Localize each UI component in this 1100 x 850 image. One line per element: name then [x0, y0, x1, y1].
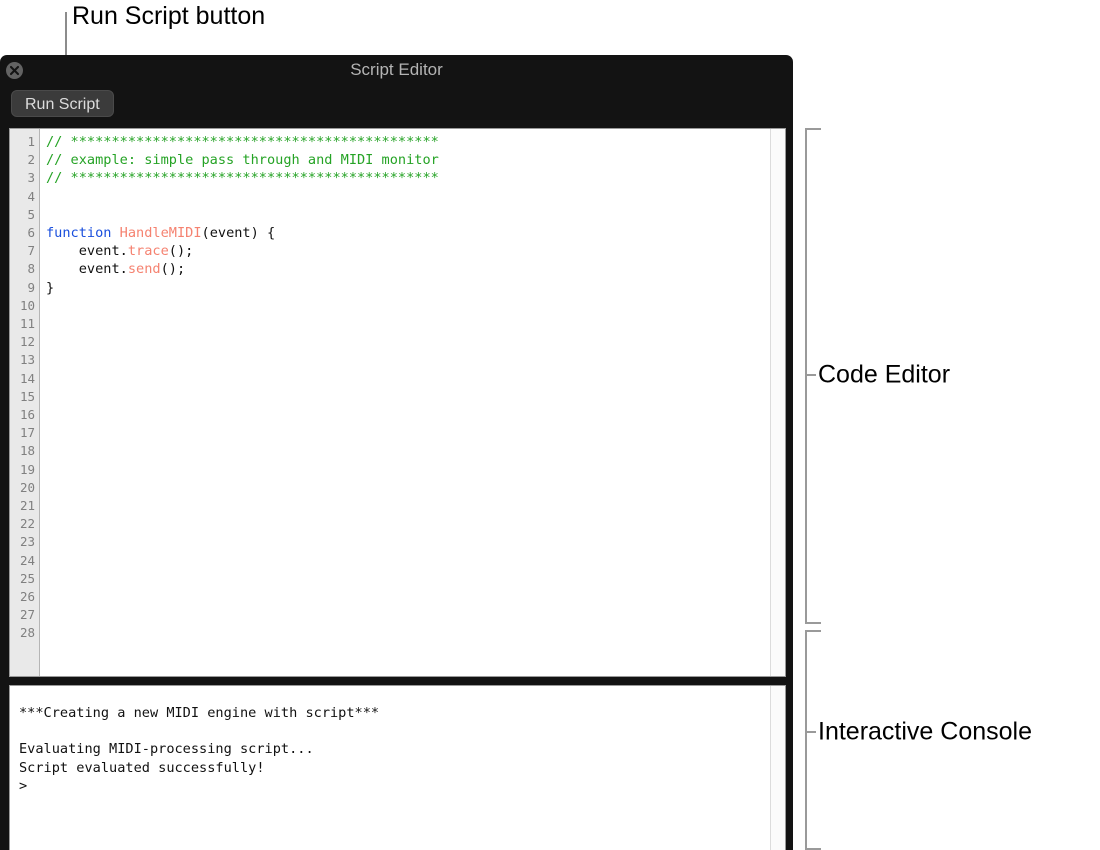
window-title-bar: Script Editor: [0, 55, 793, 85]
code-editor[interactable]: 1234567891011121314151617181920212223242…: [9, 128, 786, 677]
line-number: 13: [10, 351, 39, 369]
code-token-comment: // example: simple pass through and MIDI…: [46, 152, 439, 168]
code-token-plain: event.: [46, 243, 128, 259]
code-token-plain: ();: [169, 243, 194, 259]
code-token-plain: ();: [161, 261, 186, 277]
line-number: 18: [10, 442, 39, 460]
code-token-plain: }: [46, 280, 54, 296]
line-number: 12: [10, 333, 39, 351]
line-number: 27: [10, 606, 39, 624]
line-number: 4: [10, 188, 39, 206]
window-title: Script Editor: [0, 55, 793, 85]
line-number: 15: [10, 388, 39, 406]
script-editor-window: Script Editor Run Script 123456789101112…: [0, 55, 793, 850]
line-number: 25: [10, 570, 39, 588]
code-token-comment: // *************************************…: [46, 134, 439, 150]
line-number: 9: [10, 279, 39, 297]
line-number: 5: [10, 206, 39, 224]
code-text-area[interactable]: // *************************************…: [40, 129, 785, 676]
line-number: 11: [10, 315, 39, 333]
annotation-tick-interactive-console: [805, 731, 816, 733]
line-number: 20: [10, 479, 39, 497]
line-number: 19: [10, 461, 39, 479]
line-number: 22: [10, 515, 39, 533]
code-token-plain: event.: [46, 261, 128, 277]
callout-label-run-script: Run Script button: [72, 0, 265, 32]
line-number: 24: [10, 552, 39, 570]
code-token-plain: (event) {: [202, 225, 276, 241]
line-number: 8: [10, 260, 39, 278]
line-number: 10: [10, 297, 39, 315]
line-number: 2: [10, 151, 39, 169]
code-token-fn: HandleMIDI: [120, 225, 202, 241]
annotation-label-interactive-console: Interactive Console: [818, 718, 1032, 747]
line-number: 23: [10, 533, 39, 551]
annotation-tick-code-editor: [805, 374, 816, 376]
interactive-console[interactable]: ***Creating a new MIDI engine with scrip…: [9, 685, 786, 850]
line-number: 6: [10, 224, 39, 242]
line-number: 16: [10, 406, 39, 424]
line-number: 28: [10, 624, 39, 642]
toolbar: Run Script: [0, 85, 793, 125]
code-token-comment: // *************************************…: [46, 170, 439, 186]
line-number: 7: [10, 242, 39, 260]
line-number-gutter: 1234567891011121314151617181920212223242…: [10, 129, 40, 676]
code-token-fn: send: [128, 261, 161, 277]
console-scrollbar[interactable]: [770, 686, 785, 850]
code-editor-scrollbar[interactable]: [770, 129, 785, 676]
code-token-fn: trace: [128, 243, 169, 259]
code-content[interactable]: // *************************************…: [40, 129, 439, 297]
line-number: 3: [10, 169, 39, 187]
code-token-keyword: function: [46, 225, 120, 241]
run-script-button[interactable]: Run Script: [11, 90, 114, 117]
line-number: 14: [10, 370, 39, 388]
line-number: 26: [10, 588, 39, 606]
line-number: 21: [10, 497, 39, 515]
annotation-label-code-editor: Code Editor: [818, 361, 950, 390]
line-number: 1: [10, 133, 39, 151]
console-output: ***Creating a new MIDI engine with scrip…: [10, 686, 379, 795]
line-number: 17: [10, 424, 39, 442]
